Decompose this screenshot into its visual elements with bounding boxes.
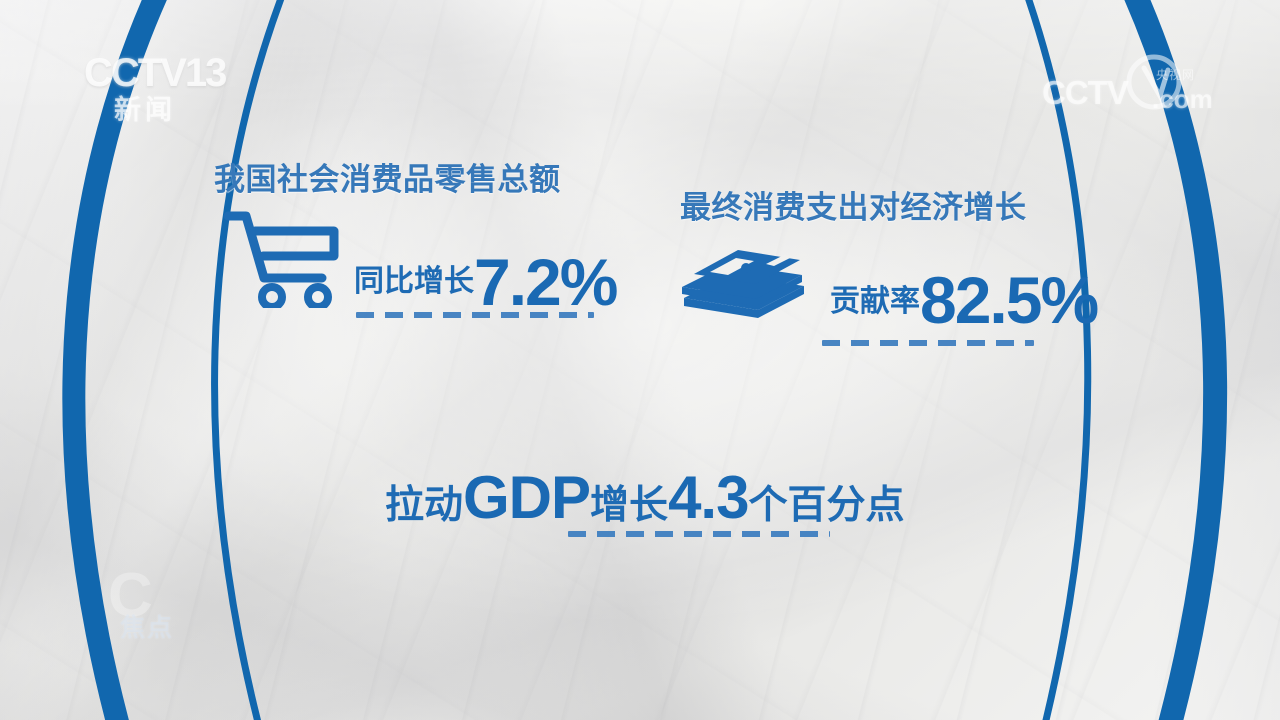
gdp-middle: 增长 xyxy=(590,474,668,530)
stat-consumption-row: 贡献率 82.5% xyxy=(680,242,1097,331)
stat-retail-row: 同比增长 7.2% xyxy=(222,204,616,313)
stat-consumption-value: 82.5 xyxy=(920,263,1040,337)
gdp-line: 拉动 GDP 增长 4.3 个百分点 xyxy=(385,463,905,532)
stat-retail-value: 7.2 xyxy=(474,245,560,319)
gdp-prefix: 拉动 xyxy=(385,474,463,530)
gdp-metric: GDP xyxy=(463,463,590,532)
stat-consumption-heading: 最终消费支出对经济增长 xyxy=(680,190,1097,226)
stat-consumption-unit: % xyxy=(1040,263,1097,337)
underline-dash-consumption xyxy=(822,340,1034,346)
money-stack-icon xyxy=(680,242,808,331)
underline-dash-retail xyxy=(356,312,594,318)
gdp-value: 4.3 xyxy=(668,463,748,532)
shopping-cart-icon xyxy=(222,204,344,313)
infographic-canvas: 我国社会消费品零售总额 同比增长 7.2% xyxy=(0,0,1280,720)
stat-block-retail: 我国社会消费品零售总额 同比增长 7.2% xyxy=(214,162,616,313)
stat-consumption-label: 贡献率 xyxy=(830,276,920,331)
stat-retail-unit: % xyxy=(560,245,617,319)
stat-block-gdp: 拉动 GDP 增长 4.3 个百分点 xyxy=(385,463,905,532)
stat-block-consumption: 最终消费支出对经济增长 xyxy=(680,190,1097,331)
stat-retail-label: 同比增长 xyxy=(354,256,474,313)
stat-retail-value-wrap: 7.2% xyxy=(474,252,616,313)
gdp-suffix: 个百分点 xyxy=(748,474,904,530)
stat-consumption-value-wrap: 82.5% xyxy=(920,270,1097,331)
underline-dash-gdp xyxy=(568,531,830,537)
content-layer: 我国社会消费品零售总额 同比增长 7.2% xyxy=(0,0,1280,720)
stat-retail-heading: 我国社会消费品零售总额 xyxy=(214,162,616,198)
